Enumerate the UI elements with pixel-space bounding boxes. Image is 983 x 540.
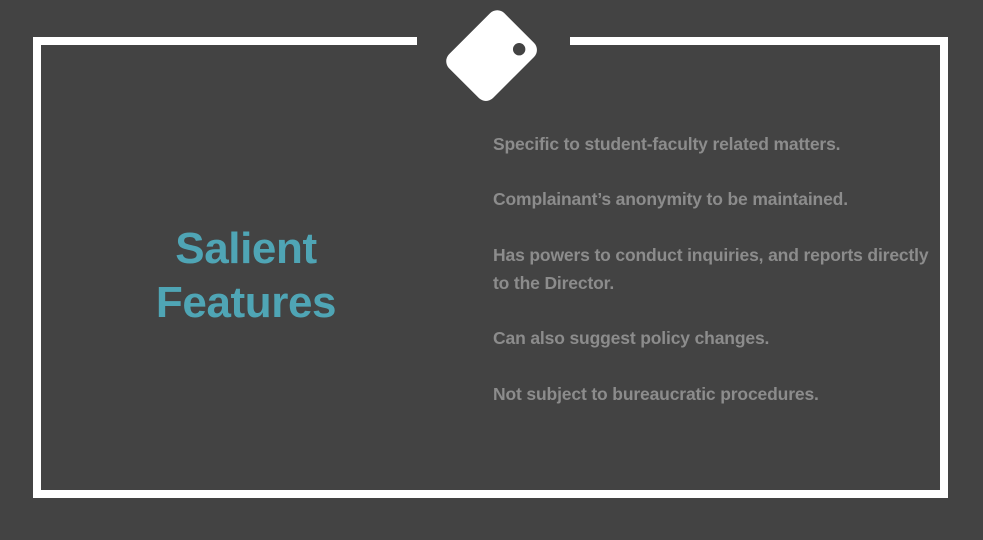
page-title-line-2: Features [60, 276, 432, 330]
list-item: Can also suggest policy changes. [493, 324, 931, 352]
page-title: Salient Features [60, 222, 432, 329]
slide-content: Salient Features Specific to student-fac… [0, 0, 983, 540]
list-item: Complainant’s anonymity to be maintained… [493, 185, 931, 213]
slide-canvas: Salient Features Specific to student-fac… [0, 0, 983, 540]
bullet-list: Specific to student-faculty related matt… [493, 130, 931, 408]
list-item: Has powers to conduct inquiries, and rep… [493, 241, 931, 298]
page-title-line-1: Salient [60, 222, 432, 276]
title-column: Salient Features [60, 222, 432, 329]
list-item: Not subject to bureaucratic procedures. [493, 380, 931, 408]
list-item: Specific to student-faculty related matt… [493, 130, 931, 158]
